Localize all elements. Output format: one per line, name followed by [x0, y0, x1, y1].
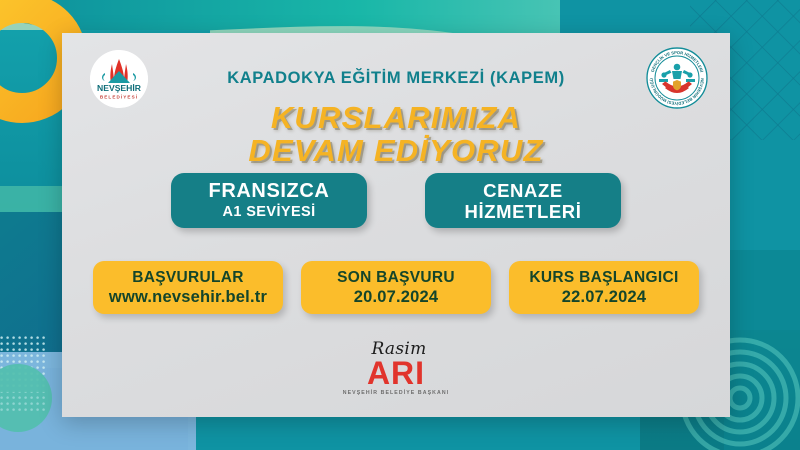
info-card-basvurular[interactable]: BAŞVURULAR www.nevsehir.bel.tr	[93, 261, 283, 314]
course-list: FRANSIZCA A1 SEVİYESİ CENAZE HİZMETLERİ	[62, 173, 730, 228]
poster-card: NEVŞEHİR BELEDİYESİ GENÇLİK VE SPOR HİZM…	[62, 33, 730, 417]
signature-title: NEVŞEHİR BELEDİYE BAŞKANI	[62, 390, 730, 396]
headline-line-1: KURSLARIMIZA	[271, 100, 521, 135]
info-label: KURS BAŞLANGICI	[529, 268, 678, 287]
course-subtitle: A1 SEVİYESİ	[222, 203, 315, 222]
info-card-kurs-baslangici[interactable]: KURS BAŞLANGICI 22.07.2024	[509, 261, 699, 314]
course-title-line-1: CENAZE	[483, 180, 563, 201]
headline-line-2: DEVAM EDİYORUZ	[62, 134, 730, 167]
page-title: KAPADOKYA EĞİTİM MERKEZİ (KAPEM)	[62, 69, 730, 88]
headline: KURSLARIMIZA DEVAM EDİYORUZ	[62, 101, 730, 167]
info-list: BAŞVURULAR www.nevsehir.bel.tr SON BAŞVU…	[62, 261, 730, 314]
info-value: 22.07.2024	[562, 287, 647, 307]
course-card-fransizca[interactable]: FRANSIZCA A1 SEVİYESİ	[171, 173, 367, 228]
course-card-cenaze-hizmetleri[interactable]: CENAZE HİZMETLERİ	[425, 173, 621, 228]
info-value: 20.07.2024	[354, 287, 439, 307]
info-value[interactable]: www.nevsehir.bel.tr	[109, 287, 267, 307]
logo-left-text-sub: BELEDİYESİ	[100, 94, 138, 100]
course-title: FRANSIZCA	[209, 180, 330, 203]
course-title-line-2: HİZMETLERİ	[465, 201, 582, 222]
info-label: BAŞVURULAR	[132, 268, 244, 287]
signature-last-name: ARI	[62, 357, 730, 389]
info-card-son-basvuru[interactable]: SON BAŞVURU 20.07.2024	[301, 261, 491, 314]
signature-block: Rasim ARI NEVŞEHİR BELEDİYE BAŞKANI	[62, 341, 730, 396]
info-label: SON BAŞVURU	[337, 268, 455, 287]
